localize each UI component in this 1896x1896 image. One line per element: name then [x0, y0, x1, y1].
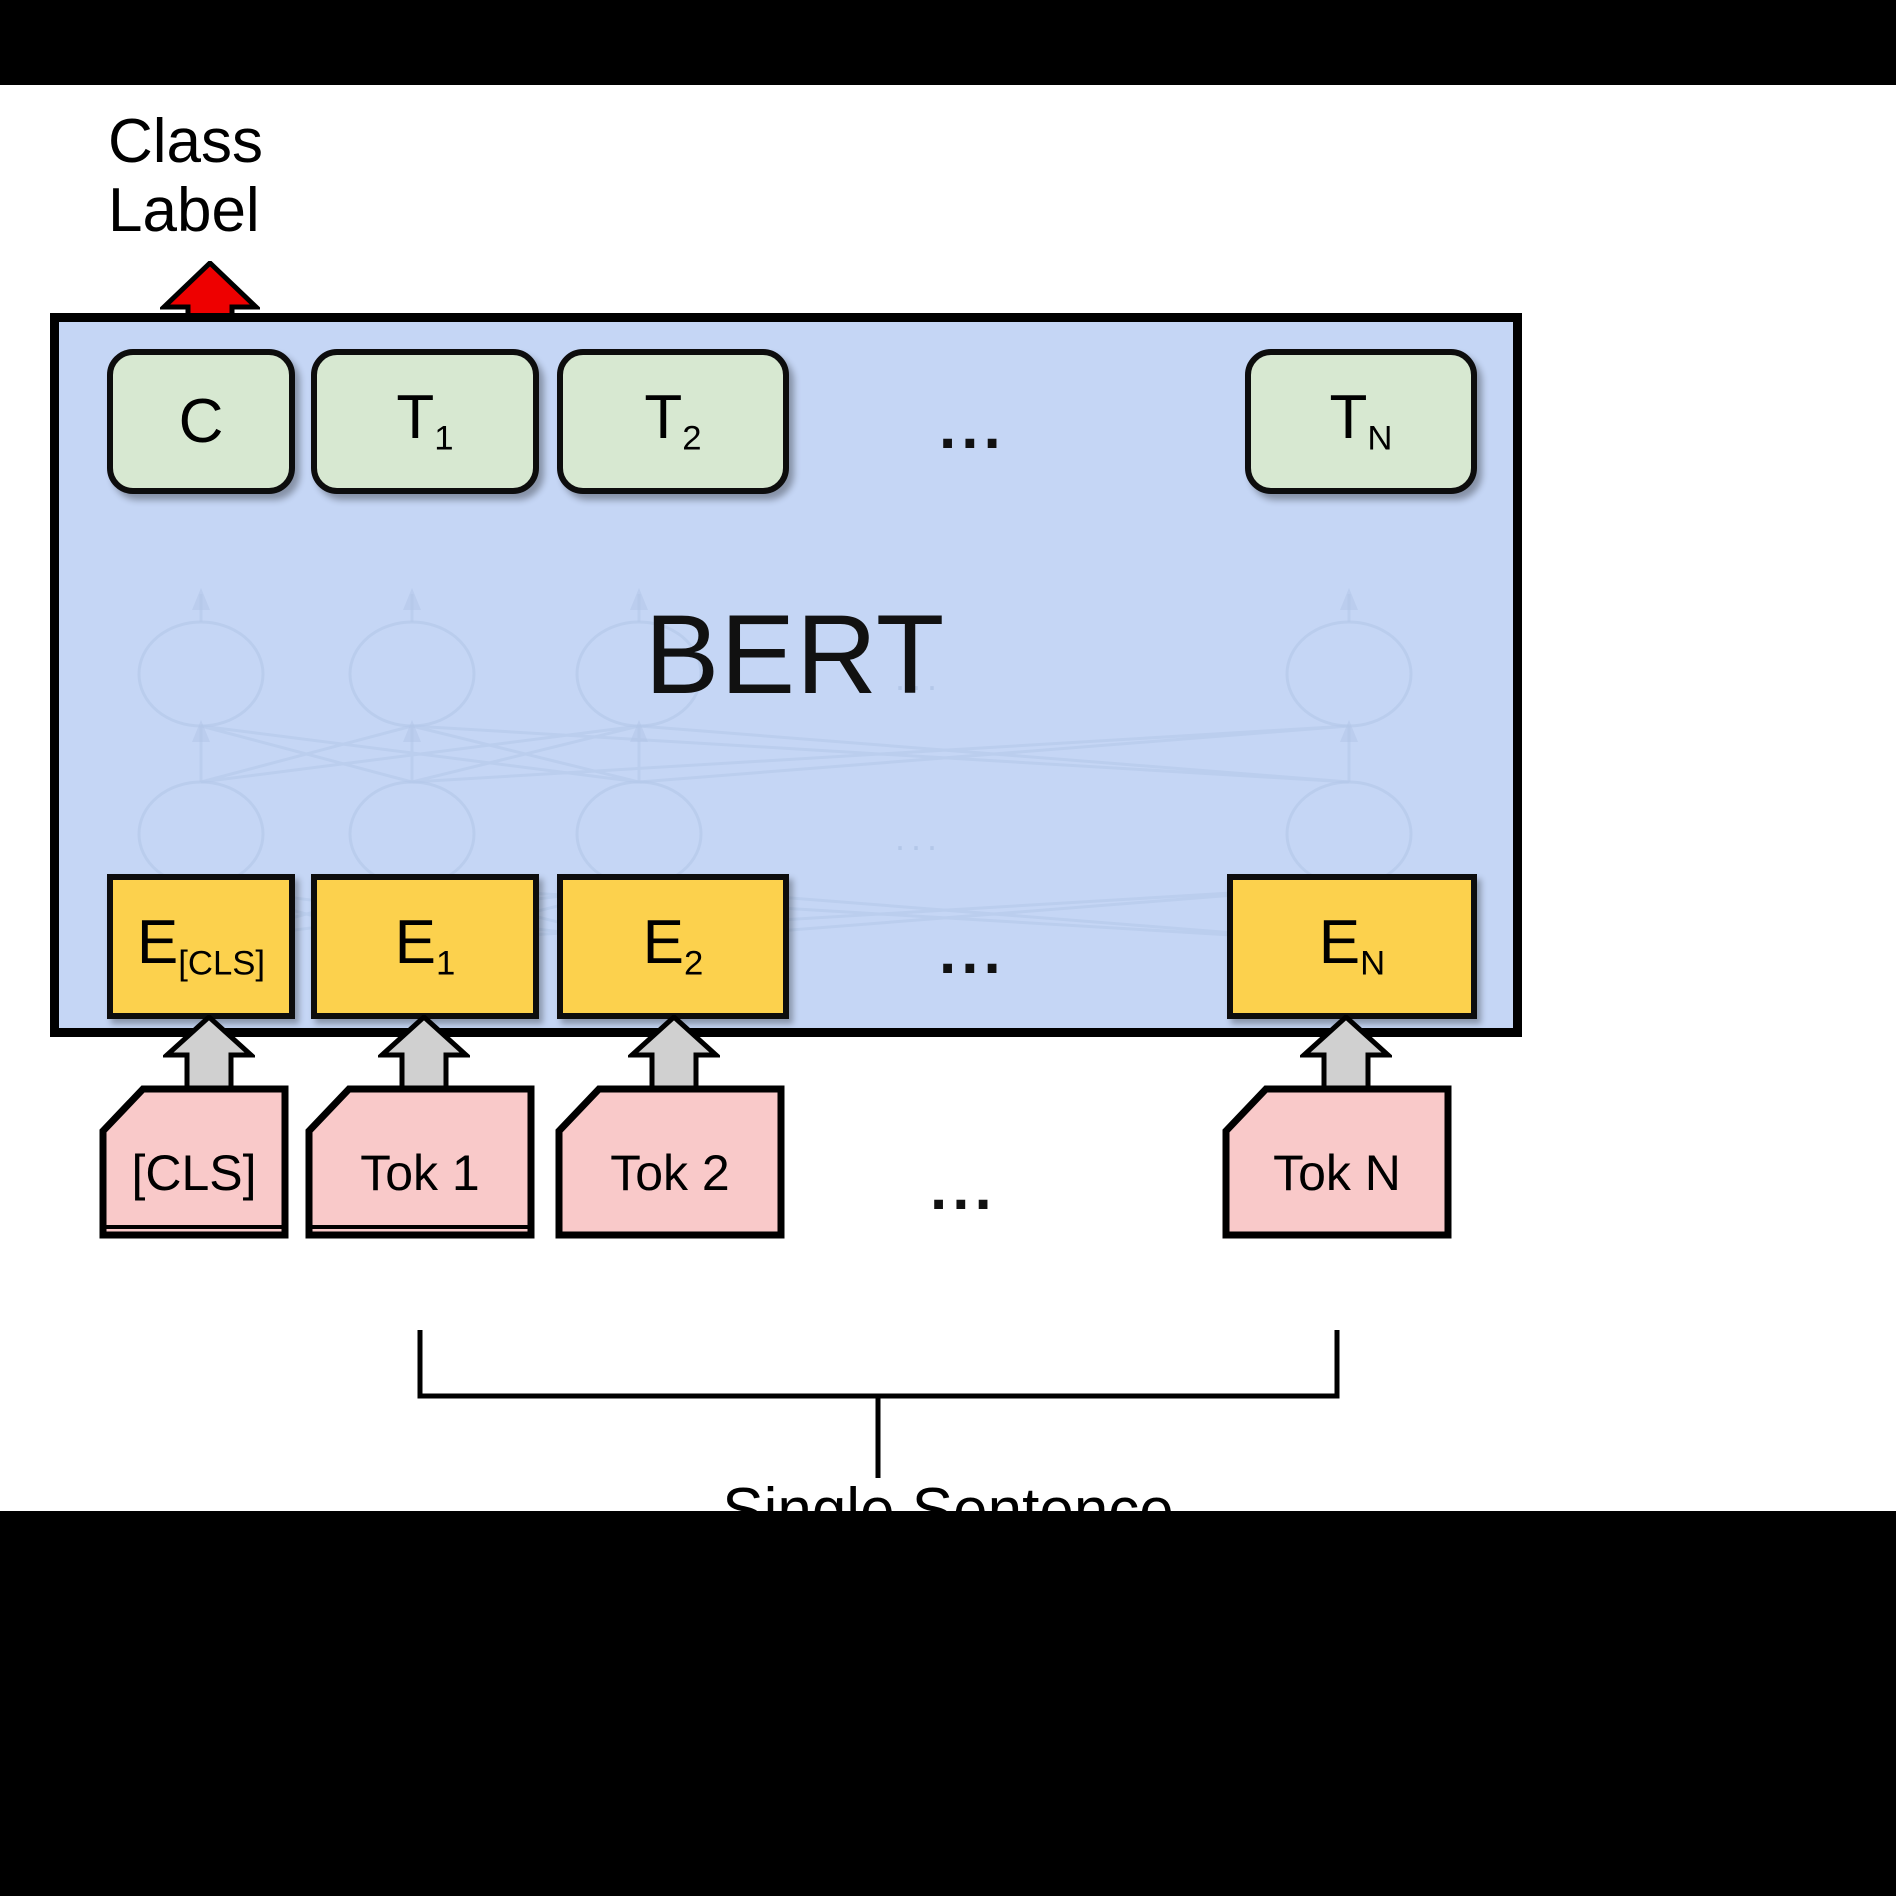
embedding-box-e2[interactable]: E2: [557, 874, 789, 1019]
token-row-ellipsis: ...: [930, 1158, 997, 1220]
embedding-label-e2: E2: [643, 912, 704, 981]
token-label-tok1: Tok 1: [305, 1148, 535, 1198]
embedding-row-ellipsis: ...: [939, 922, 1006, 984]
output-row-ellipsis: ...: [939, 397, 1006, 459]
letterbox-bar-top: [0, 0, 1896, 85]
letterbox-bar-bottom: [0, 1511, 1896, 1896]
embedding-box-cls[interactable]: E[CLS]: [107, 874, 295, 1019]
embedding-box-en[interactable]: EN: [1227, 874, 1477, 1019]
output-box-t2[interactable]: T2: [557, 349, 789, 494]
input-arrow-icon-tok1: [378, 1015, 470, 1089]
output-box-t1[interactable]: T1: [311, 349, 539, 494]
token-label-cls: [CLS]: [99, 1148, 289, 1198]
output-label-t1: T1: [396, 387, 453, 456]
single-sentence-label: Single Sentence: [0, 1475, 1896, 1546]
bert-title-text: BERT: [59, 590, 1531, 719]
embedding-label-cls: E[CLS]: [137, 912, 265, 981]
output-row: C T1 T2 ... TN: [59, 349, 1531, 494]
embedding-label-e1: E1: [395, 912, 456, 981]
embedding-box-e1[interactable]: E1: [311, 874, 539, 1019]
svg-text:...: ...: [895, 817, 943, 858]
output-label-c: C: [179, 391, 224, 453]
token-label-tok2: Tok 2: [555, 1148, 785, 1198]
output-box-tn[interactable]: TN: [1245, 349, 1477, 494]
class-label-text: Class Label: [108, 107, 438, 246]
output-box-c[interactable]: C: [107, 349, 295, 494]
output-label-tn: TN: [1330, 387, 1393, 456]
input-arrow-icon-tok2: [628, 1015, 720, 1089]
input-arrow-icon-tokn: [1300, 1015, 1392, 1089]
output-label-t2: T2: [644, 387, 701, 456]
diagram-canvas: Class Label: [0, 0, 1896, 1896]
token-label-tokn: Tok N: [1222, 1148, 1452, 1198]
embedding-label-en: EN: [1319, 912, 1385, 981]
input-arrow-icon-cls: [163, 1015, 255, 1089]
embedding-row: E[CLS] E1 E2 ... EN: [59, 874, 1531, 1019]
bert-encoder-box: ... ... BERT C T1 T2 ... TN: [50, 313, 1522, 1037]
